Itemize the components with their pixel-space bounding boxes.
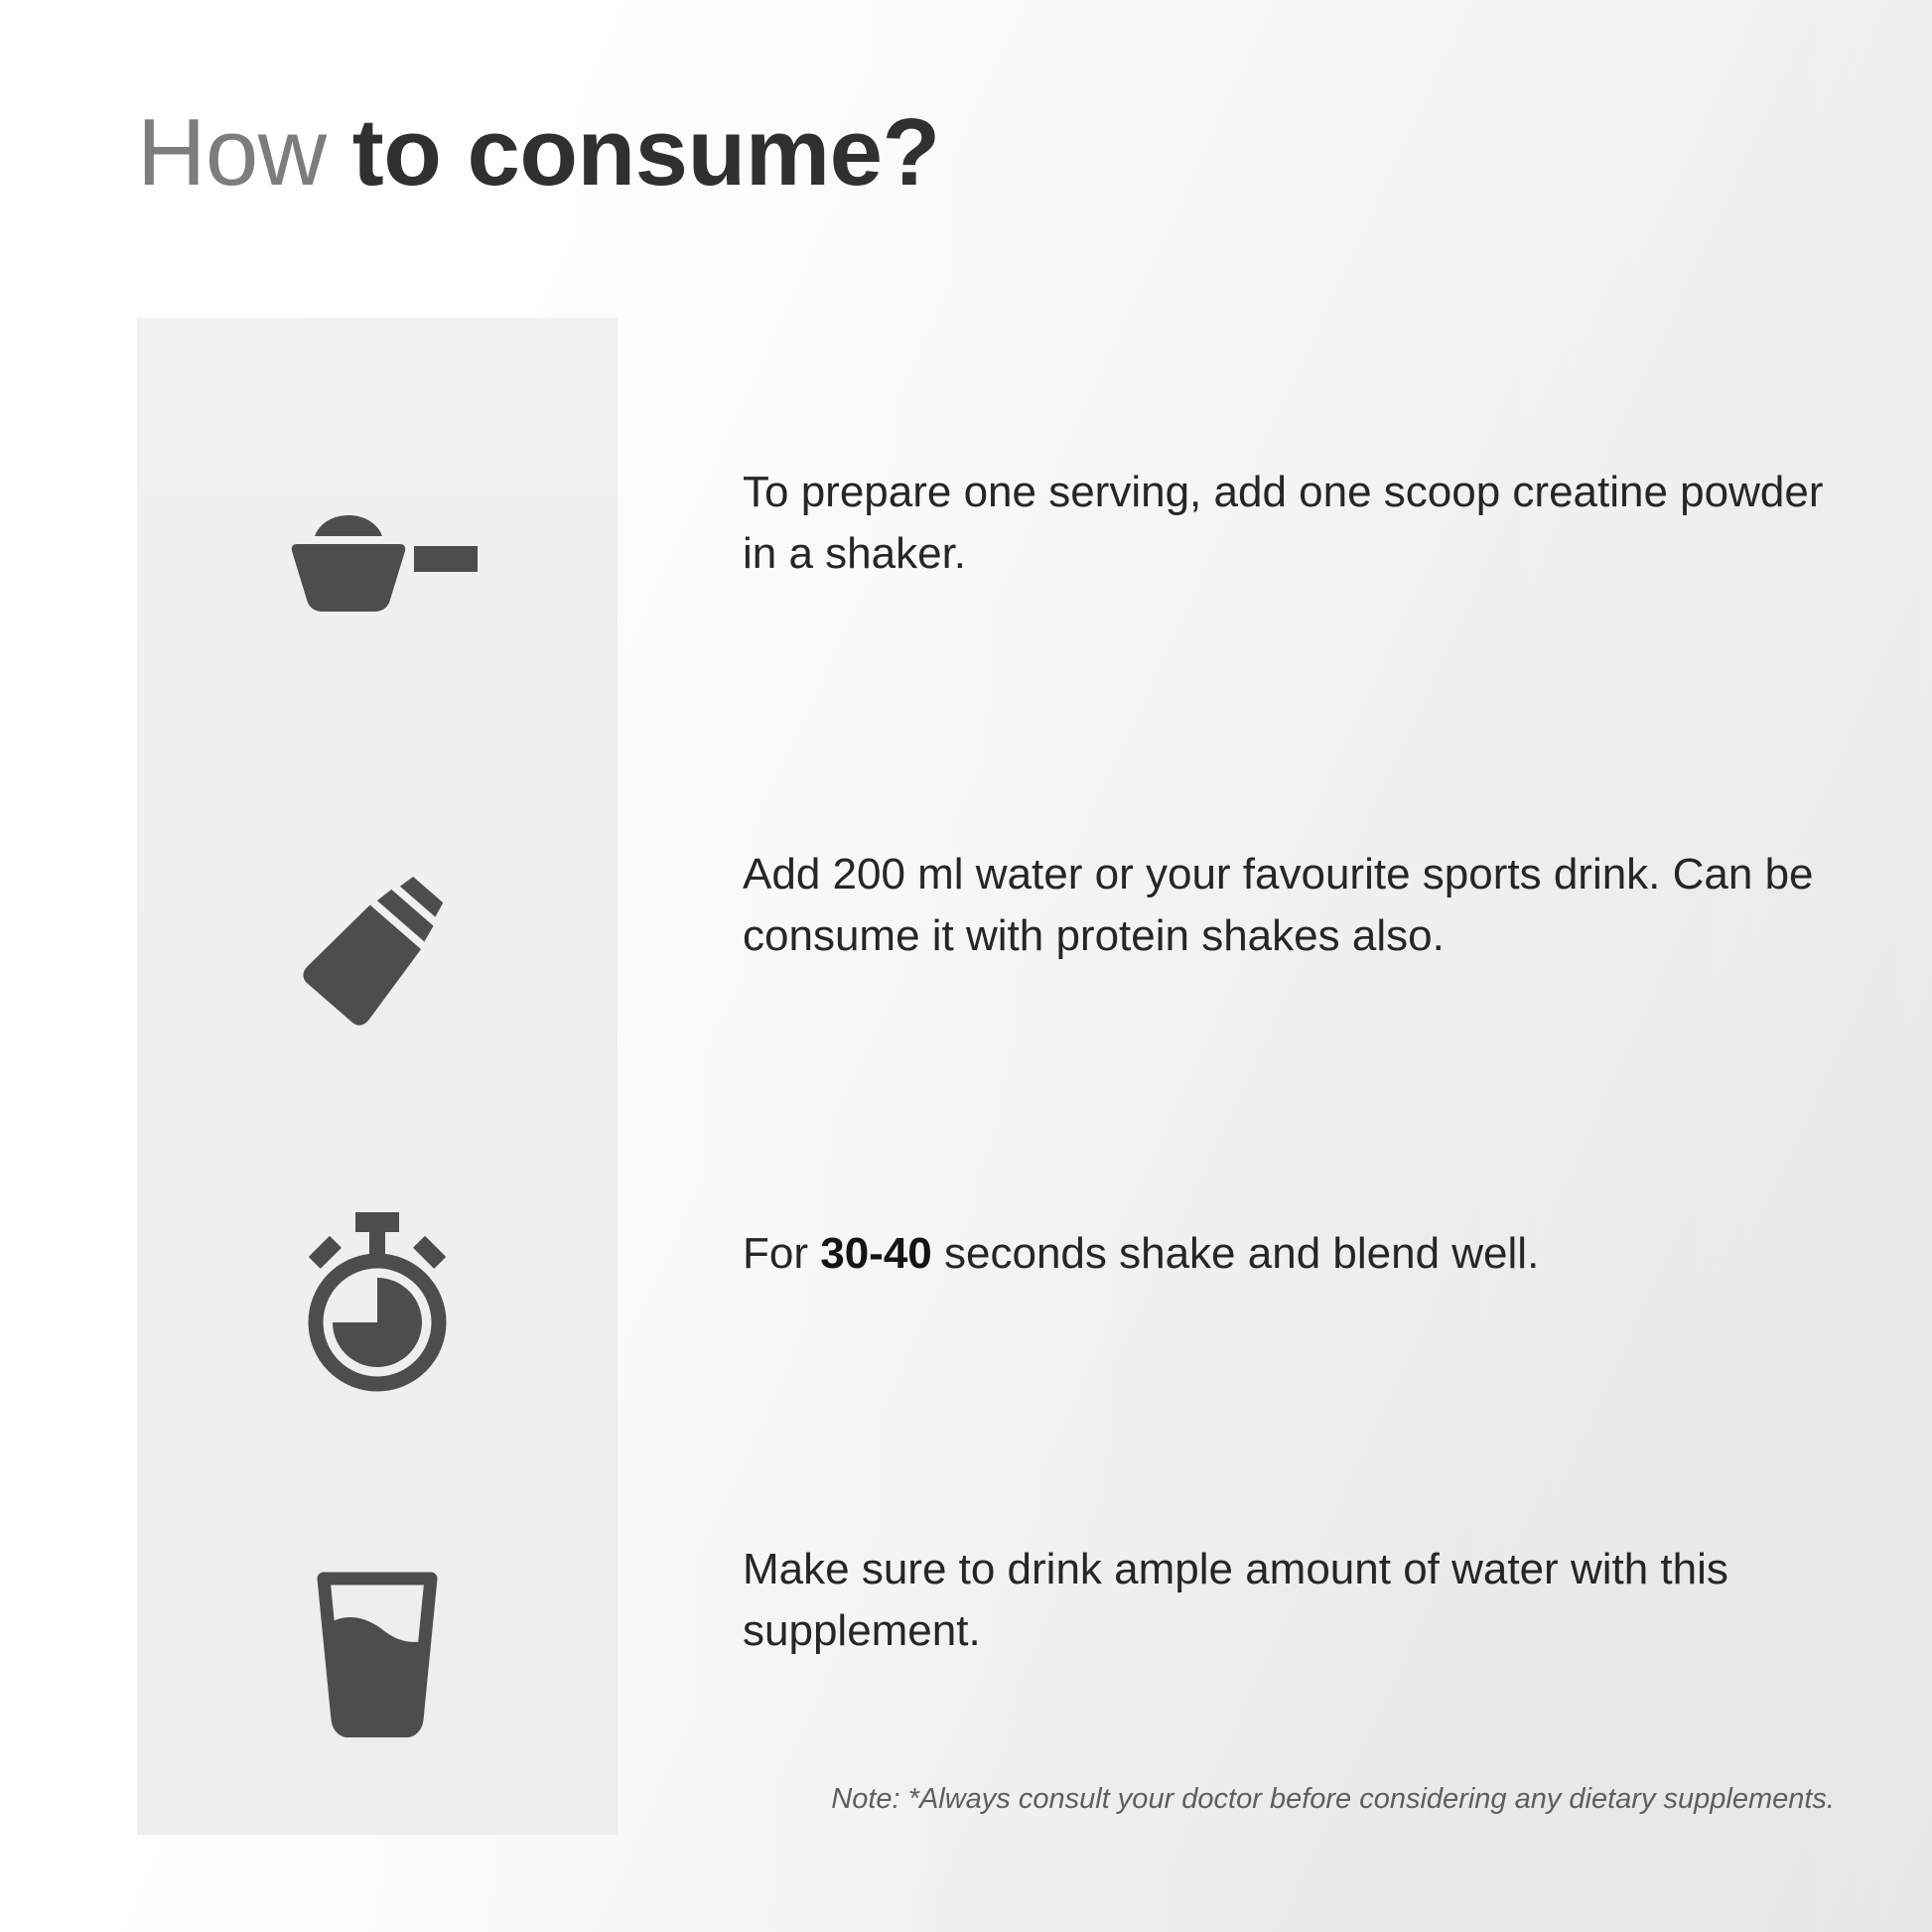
step-3-emphasis: 30-40 — [820, 1229, 932, 1278]
step-text-1: To prepare one serving, add one scoop cr… — [743, 462, 1831, 586]
page-title-bold: to consume? — [352, 99, 940, 206]
stopwatch-icon — [288, 1206, 467, 1395]
shaker-bottle-icon — [288, 859, 467, 1037]
icon-panel — [137, 318, 618, 1835]
step-text-3: For 30-40 seconds shake and blend well. — [743, 1223, 1831, 1285]
scoop-icon — [273, 496, 482, 616]
step-text-4: Make sure to drink ample amount of water… — [743, 1539, 1831, 1663]
icon-slot-2 — [137, 849, 618, 1047]
water-glass-icon — [308, 1569, 447, 1737]
step-4-body: Make sure to drink ample amount of water… — [743, 1545, 1728, 1655]
disclaimer-note: Note: *Always consult your doctor before… — [723, 1783, 1835, 1816]
icon-slot-3 — [137, 1201, 618, 1400]
infographic-poster: How to consume? — [0, 0, 1932, 1932]
step-3-body-before: For — [743, 1229, 820, 1278]
icon-slot-1 — [137, 457, 618, 655]
step-2-body: Add 200 ml water or your favourite sport… — [743, 850, 1814, 960]
step-1-body: To prepare one serving, add one scoop cr… — [743, 468, 1823, 578]
step-3-body-after: seconds shake and blend well. — [932, 1229, 1540, 1278]
icon-slot-4 — [137, 1554, 618, 1752]
page-title: How to consume? — [137, 103, 940, 204]
step-text-2: Add 200 ml water or your favourite sport… — [743, 844, 1831, 968]
page-title-light: How — [137, 99, 352, 206]
steps-list: To prepare one serving, add one scoop cr… — [743, 318, 1831, 1835]
